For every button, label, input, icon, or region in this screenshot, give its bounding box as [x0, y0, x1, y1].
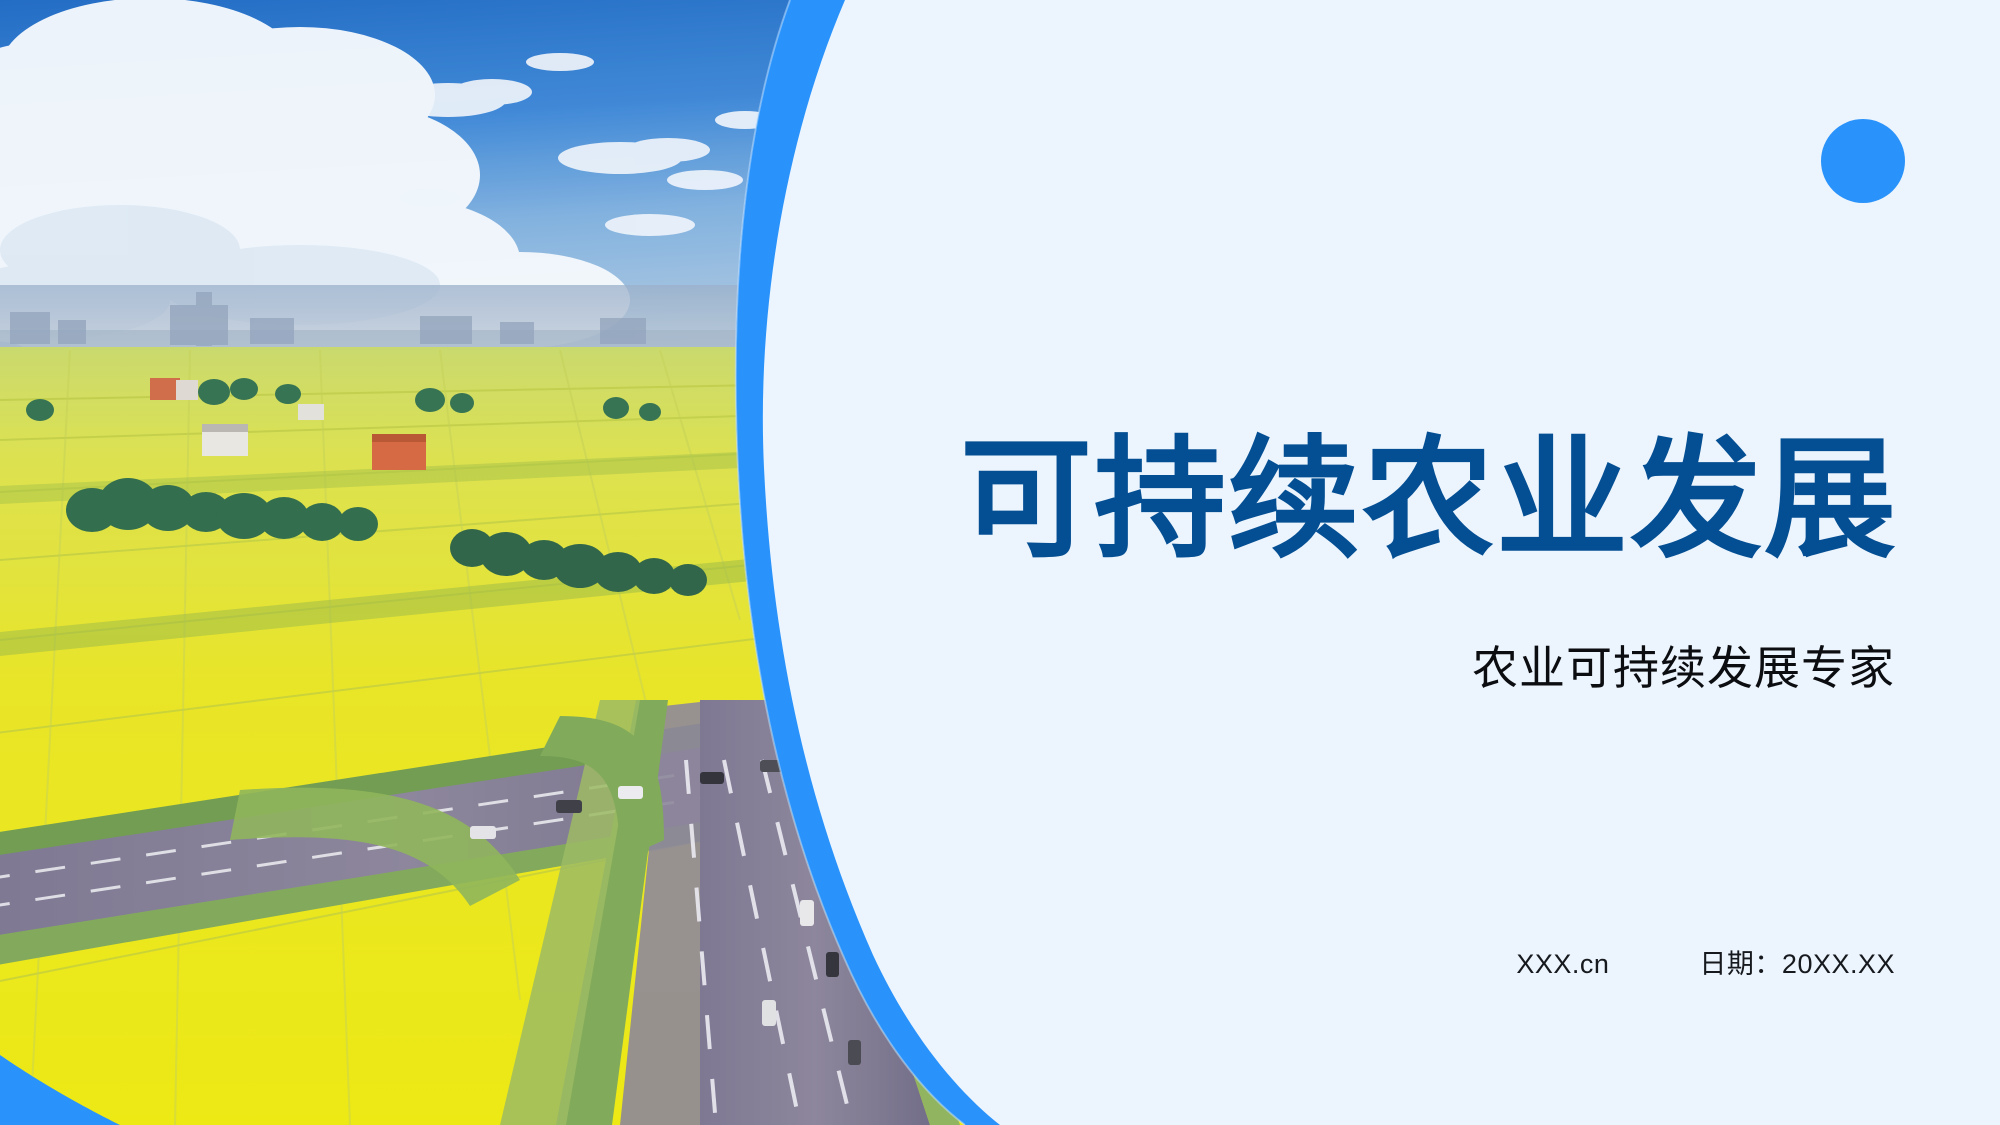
slide-footer: XXX.cn 日期：20XX.XX	[930, 942, 1895, 981]
footer-site: XXX.cn	[1516, 949, 1609, 980]
footer-date: 日期：20XX.XX	[1699, 942, 1895, 981]
page-subtitle: 农业可持续发展专家	[930, 640, 1895, 698]
presentation-slide: 可持续农业发展 农业可持续发展专家 XXX.cn 日期：20XX.XX	[0, 0, 2000, 1125]
title-text-block: 可持续农业发展 农业可持续发展专家 XXX.cn 日期：20XX.XX	[930, 0, 1930, 1125]
page-title: 可持续农业发展	[948, 430, 1910, 570]
